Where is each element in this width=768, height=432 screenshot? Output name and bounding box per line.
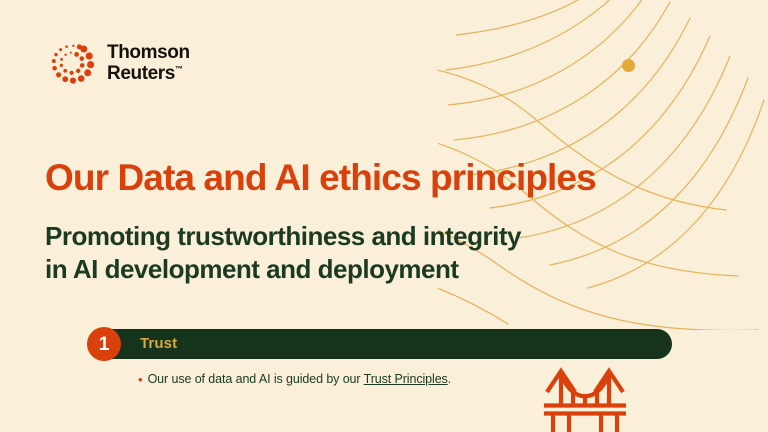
thomson-reuters-logo: ThomsonReuters™ bbox=[45, 38, 190, 90]
bullet-text-after: . bbox=[448, 372, 451, 386]
page-subtitle: Promoting trustworthiness and integrity … bbox=[45, 220, 521, 288]
principle-number-badge: 1 bbox=[87, 327, 121, 361]
brand-line-2: Reuters bbox=[107, 63, 175, 84]
thomson-reuters-dots-logo-icon bbox=[45, 38, 97, 90]
brand-wordmark: ThomsonReuters™ bbox=[107, 43, 190, 84]
principle-title: Trust bbox=[140, 329, 177, 359]
suspension-bridge-icon bbox=[541, 363, 629, 432]
bullet-text: Our use of data and AI is guided by our … bbox=[148, 371, 452, 388]
trademark-symbol: ™ bbox=[175, 65, 183, 74]
amber-dot-decoration bbox=[622, 59, 635, 72]
principle-bar-trust: Trust bbox=[104, 329, 672, 359]
trust-principles-link[interactable]: Trust Principles bbox=[364, 372, 448, 386]
principle-bullet-list: • Our use of data and AI is guided by ou… bbox=[138, 371, 498, 388]
list-item: • Our use of data and AI is guided by ou… bbox=[138, 371, 498, 388]
bullet-marker-icon: • bbox=[138, 371, 143, 388]
slide-canvas: ThomsonReuters™ Our Data and AI ethics p… bbox=[0, 0, 768, 432]
page-title: Our Data and AI ethics principles bbox=[45, 158, 596, 199]
brand-line-1: Thomson bbox=[107, 42, 190, 63]
bullet-text-before: Our use of data and AI is guided by our bbox=[148, 372, 364, 386]
